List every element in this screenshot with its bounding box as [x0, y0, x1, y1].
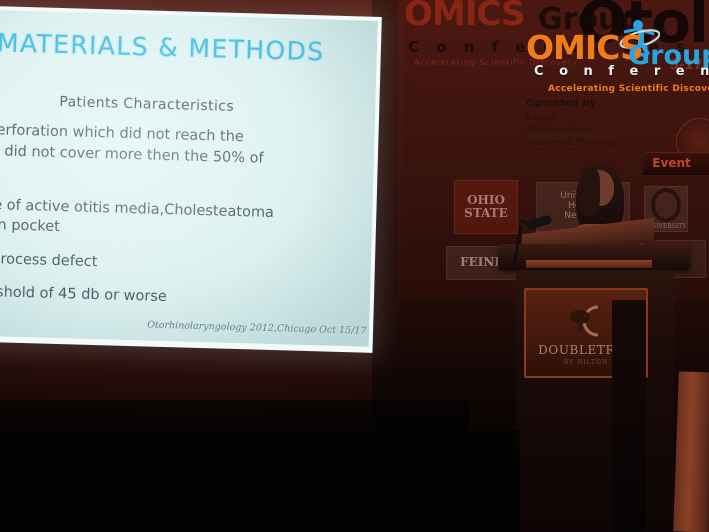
backdrop-operated-by-label: Operated by — [526, 98, 596, 109]
backdrop-event-banner-label: Event — [644, 153, 709, 170]
podium-side-shadow — [612, 300, 646, 532]
projection-screen: MATERIALS & METHODS Patients Characteris… — [0, 6, 382, 353]
slide-bullet: g incus process defect — [0, 247, 355, 279]
backdrop-omics-logo: OMICS — [404, 0, 524, 34]
backdrop-event-title: Otola — [578, 0, 709, 56]
slide-bullet: rdrum perforation which did not reach th… — [0, 119, 359, 192]
ring-icon — [651, 188, 681, 222]
backdrop-tagline: Accelerating Scientific Discovery — [414, 58, 578, 67]
backdrop-event-banner: Event — [642, 152, 709, 175]
doubletree-tree-icon — [564, 301, 608, 341]
conference-photo: OMICS Group C o n f e r e n c e s Accele… — [0, 0, 709, 532]
backdrop-event-dates: 5-17 — [670, 58, 703, 73]
stage-curtain — [673, 371, 709, 532]
speaker-hair-front — [578, 168, 600, 216]
slide-bullet: evidence of active otitis media,Choleste… — [0, 193, 357, 246]
microphone-neck — [513, 226, 522, 266]
screen-frame: MATERIALS & METHODS Patients Characteris… — [0, 6, 382, 353]
foreground-dark-area — [0, 430, 520, 532]
lectern-podium: DOUBLETREE BY HILTON — [498, 244, 690, 532]
hotel-sub-label: BY HILTON — [564, 359, 608, 366]
slide-bullet: aring treshold of 45 db or worse — [0, 281, 354, 313]
slide-surface: MATERIALS & METHODS Patients Characteris… — [0, 10, 378, 347]
slide-bullet-list: rdrum perforation which did not reach th… — [0, 119, 359, 327]
slide-title: MATERIALS & METHODS — [0, 28, 325, 66]
slide-subtitle: Patients Characteristics — [59, 94, 234, 115]
gooseneck-microphone-icon — [500, 218, 560, 264]
backdrop-operated-list: Editors Otolaryngology Anatomy & Physiol… — [526, 112, 622, 149]
